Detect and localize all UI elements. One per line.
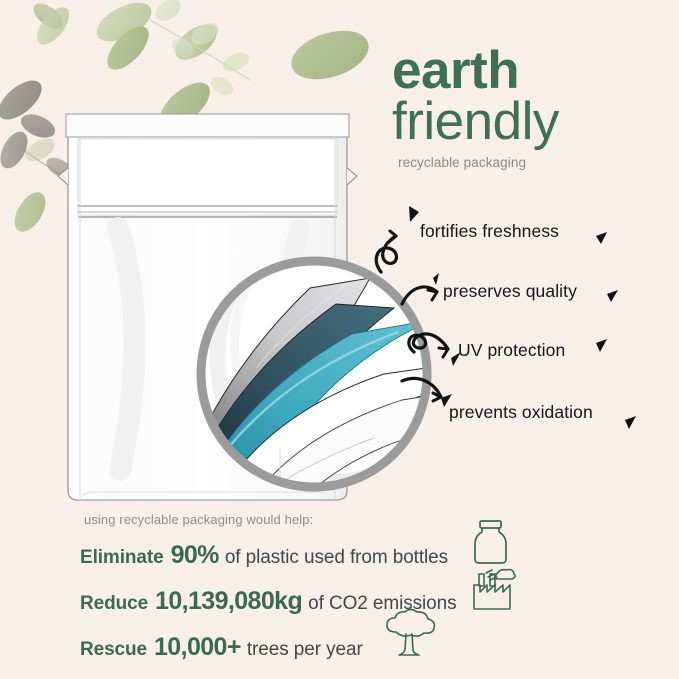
feature-label-fortifies-freshness: fortifies freshness bbox=[420, 221, 559, 242]
stat-value: 10,139,080kg bbox=[155, 587, 302, 616]
stat-tail: of plastic used from bottles bbox=[225, 547, 448, 569]
tree-icon bbox=[378, 608, 440, 660]
bottle-icon bbox=[468, 518, 514, 566]
feature-label-uv-protection: UV protection bbox=[458, 340, 565, 361]
feature-label-preserves-quality: preserves quality bbox=[443, 281, 577, 302]
magnified-layers-detail bbox=[188, 248, 440, 500]
headline-line-1: earth bbox=[392, 46, 664, 95]
stat-row-rescue: Rescue 10,000+ trees per year bbox=[80, 633, 600, 662]
stat-value: 90% bbox=[171, 541, 219, 570]
factory-icon bbox=[466, 565, 518, 613]
stat-verb: Reduce bbox=[80, 593, 148, 615]
stat-row-eliminate: Eliminate 90% of plastic used from bottl… bbox=[80, 541, 600, 570]
headline-line-2: friendly bbox=[392, 95, 664, 148]
stats-block: using recyclable packaging would help: E… bbox=[80, 512, 600, 679]
infographic-canvas: earth friendly recyclable packaging bbox=[0, 0, 679, 679]
headline-block: earth friendly recyclable packaging bbox=[392, 46, 664, 170]
stat-tail: trees per year bbox=[247, 639, 363, 661]
feature-label-prevents-oxidation: prevents oxidation bbox=[449, 402, 593, 423]
stat-row-reduce: Reduce 10,139,080kg of CO2 emissions bbox=[80, 587, 600, 616]
stat-value: 10,000+ bbox=[154, 633, 241, 662]
stat-verb: Eliminate bbox=[80, 547, 164, 569]
stats-intro: using recyclable packaging would help: bbox=[84, 512, 600, 527]
headline-subtitle: recyclable packaging bbox=[398, 155, 664, 170]
stat-verb: Rescue bbox=[80, 639, 147, 661]
